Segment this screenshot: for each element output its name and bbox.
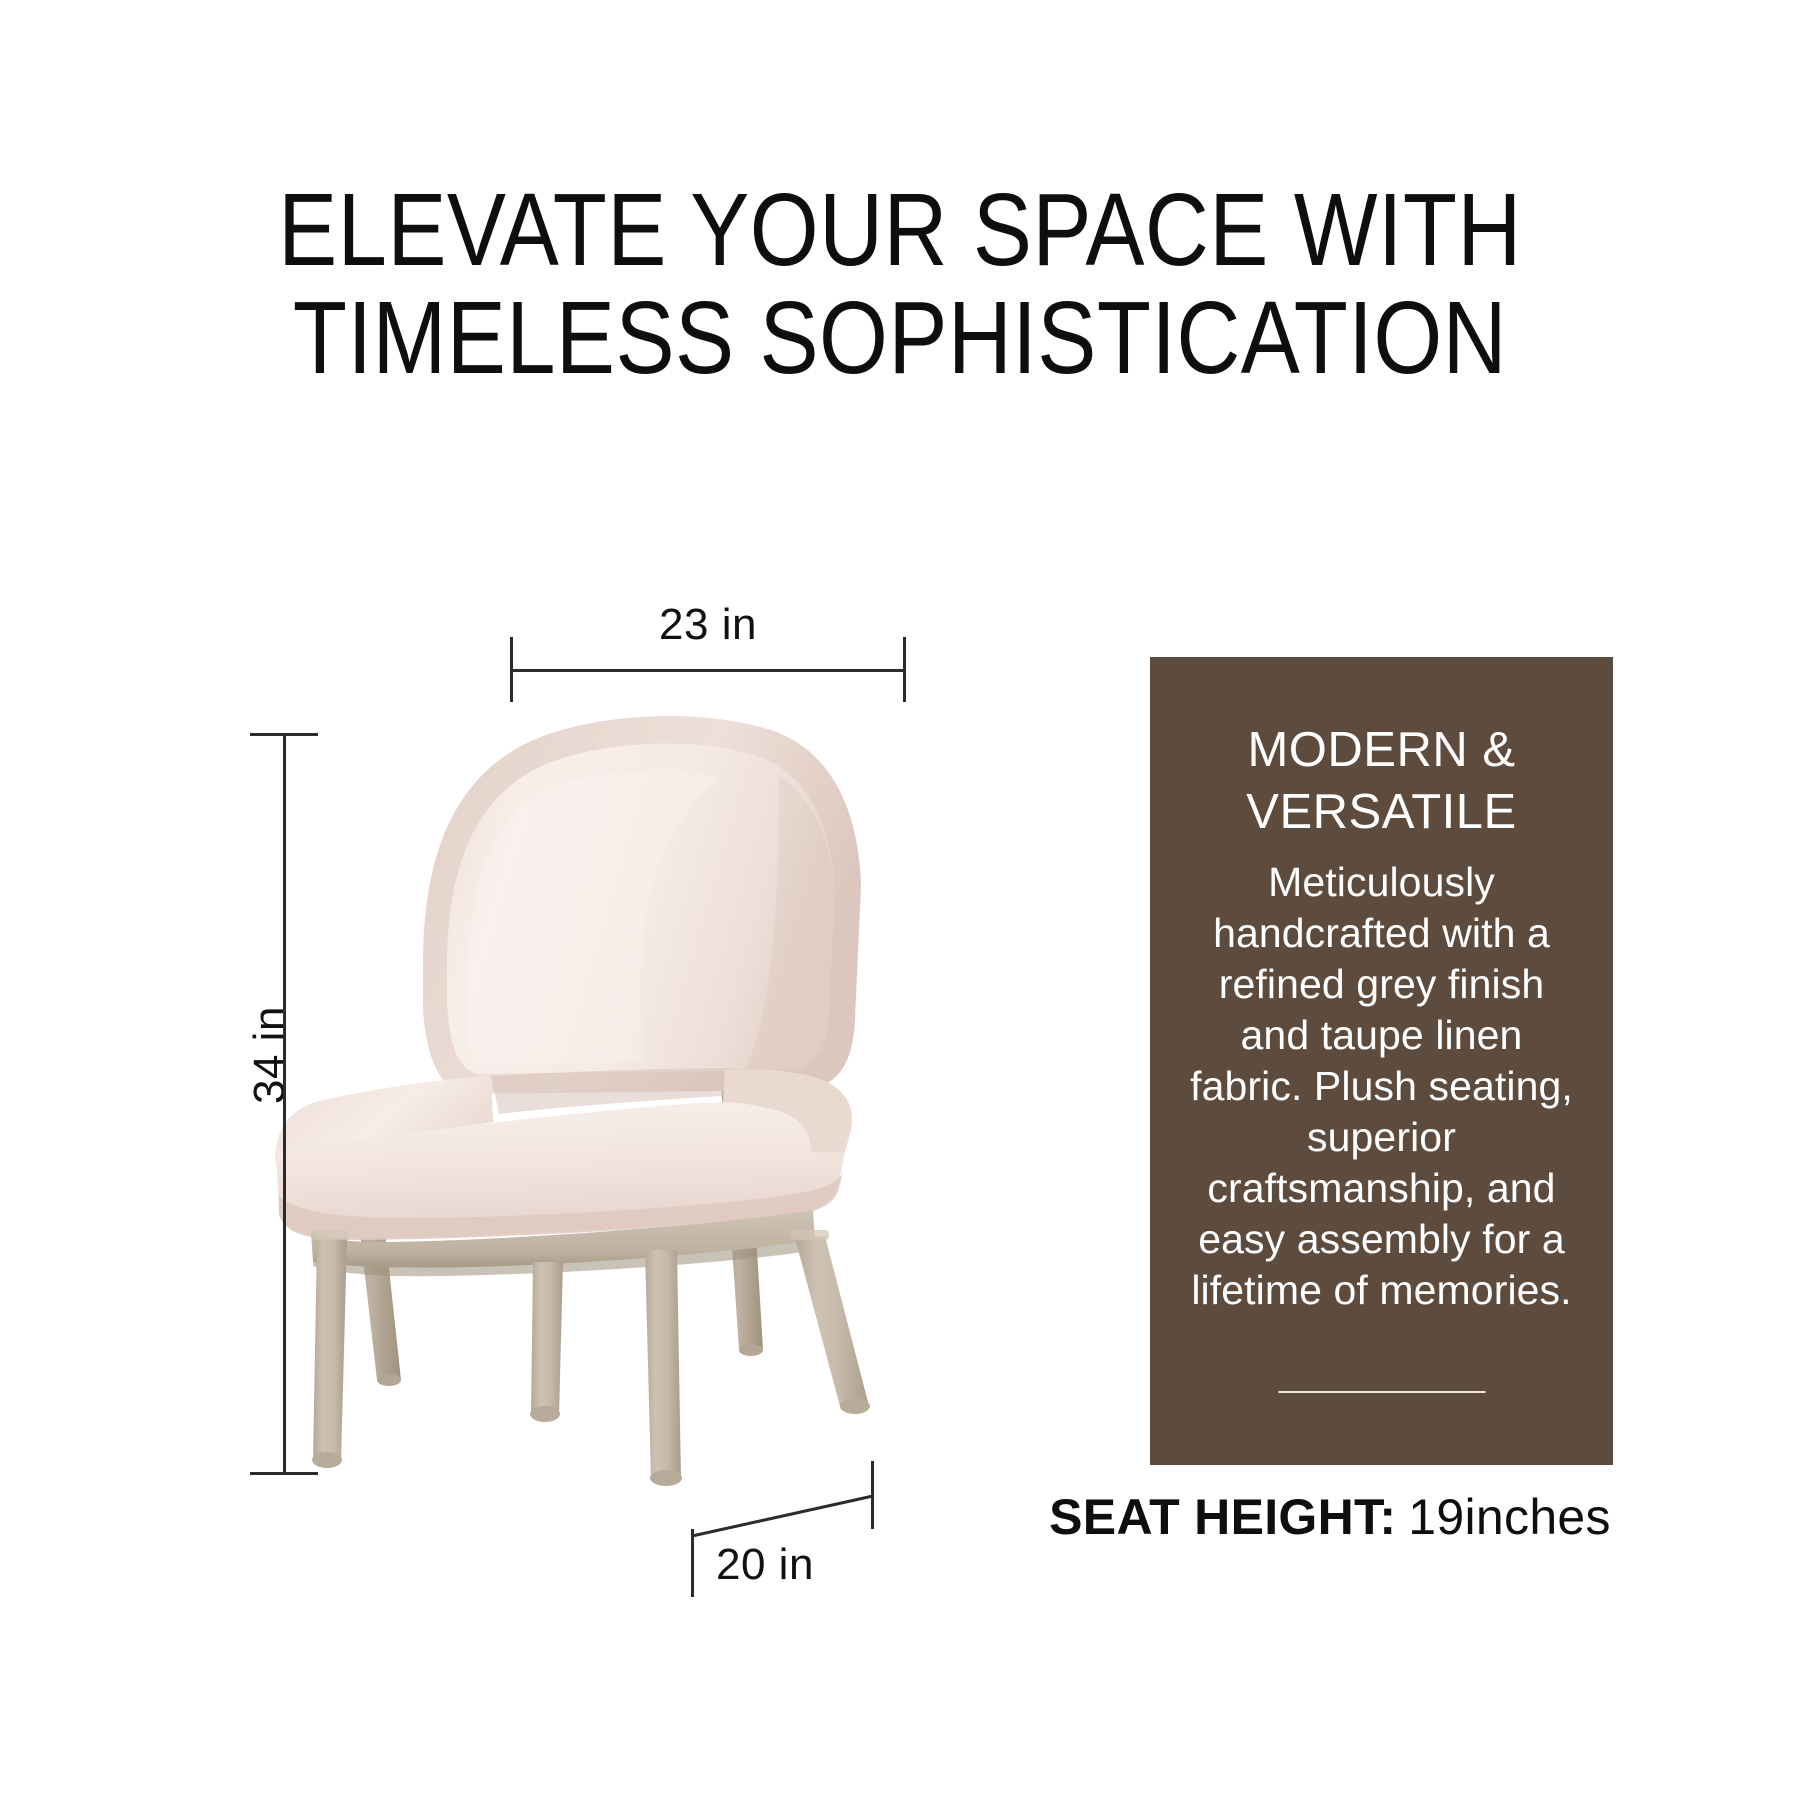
dimension-width-tick-right (903, 637, 906, 702)
page-title: ELEVATE YOUR SPACE WITH TIMELESS SOPHIST… (126, 176, 1674, 392)
chair-leg-front-center (530, 1262, 563, 1422)
dimension-depth-label: 20 in (716, 1540, 814, 1590)
divider (1278, 1391, 1485, 1393)
seat-height-value: 19inches (1408, 1489, 1611, 1545)
product-chair-image (255, 690, 935, 1490)
chair-leg-front-left (312, 1238, 347, 1468)
dimension-depth-tick-right (871, 1461, 874, 1529)
feature-callout-title: MODERN & VERSATILE (1184, 719, 1579, 843)
dimension-depth-tick-left (691, 1529, 694, 1597)
chair-leg-front-right (645, 1250, 682, 1486)
infographic-canvas: ELEVATE YOUR SPACE WITH TIMELESS SOPHIST… (0, 0, 1800, 1800)
dimension-height-tick-bottom (250, 1472, 318, 1475)
chair-leg-rear-right (795, 1236, 870, 1414)
dimension-width-line (510, 669, 906, 672)
seat-height-row: SEAT HEIGHT:19inches (1020, 1488, 1640, 1546)
feature-callout-panel: MODERN & VERSATILE Meticulously handcraf… (1150, 657, 1613, 1465)
dimension-height-label: 34 in (245, 1006, 295, 1104)
headline-line-1: ELEVATE YOUR SPACE WITH (126, 176, 1674, 284)
dimension-width-tick-left (510, 637, 513, 702)
dimension-width-label: 23 in (510, 600, 906, 650)
feature-callout-body: Meticulously handcrafted with a refined … (1184, 857, 1579, 1316)
headline-line-2: TIMELESS SOPHISTICATION (126, 284, 1674, 392)
seat-height-label: SEAT HEIGHT: (1049, 1489, 1396, 1545)
dimension-height-line (283, 733, 286, 1475)
dimension-height-tick-top (250, 733, 318, 736)
